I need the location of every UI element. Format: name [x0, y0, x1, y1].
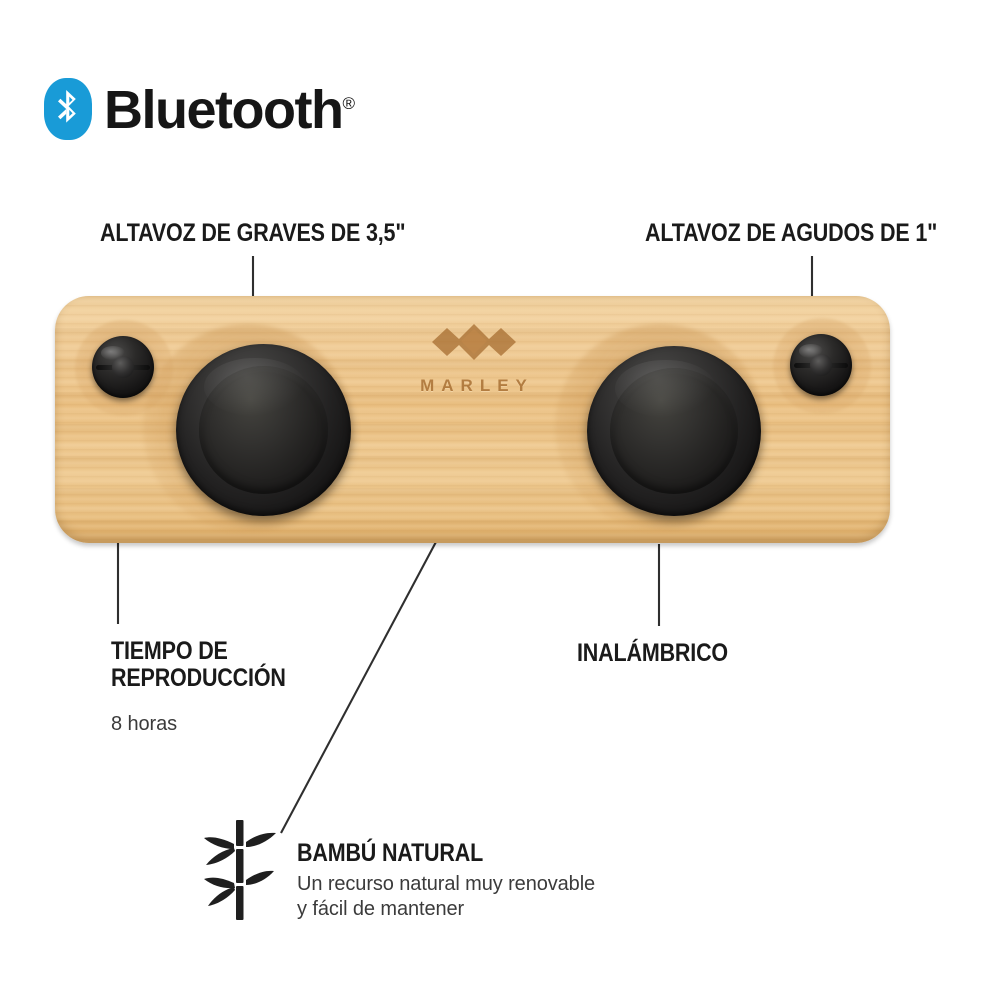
bluetooth-word-text: Bluetooth [104, 80, 342, 140]
woofer-left [176, 344, 351, 516]
bluetooth-badge: Bluetooth® [44, 78, 355, 140]
registered-trademark-symbol: ® [342, 94, 355, 113]
marley-wordmark: MARLEY [396, 376, 551, 396]
callout-title-woofer: ALTAVOZ DE GRAVES DE 3,5" [100, 220, 405, 247]
bluetooth-wordmark: Bluetooth® [104, 83, 355, 137]
tweeter-left [92, 336, 154, 398]
tweeter-right [790, 334, 852, 396]
woofer-highlight-left [204, 358, 306, 416]
marley-branding: MARLEY [396, 322, 551, 396]
callout-subtitle-bamboo: Un recurso natural muy renovable y fácil… [297, 872, 595, 922]
woofer-right [587, 346, 761, 516]
woofer-highlight-right [615, 360, 716, 418]
tweeter-highlight-right [799, 344, 824, 358]
marley-crown-emblem-icon [415, 322, 533, 366]
bluetooth-speaker-product: MARLEY [55, 296, 890, 543]
tweeter-dome-left [112, 356, 133, 377]
tweeter-dome-right [810, 354, 831, 375]
callout-title-tweeter: ALTAVOZ DE AGUDOS DE 1" [645, 220, 937, 247]
bluetooth-icon [44, 78, 92, 140]
leader-line-bamboo [281, 540, 437, 833]
tweeter-highlight-left [101, 346, 126, 360]
callout-title-bamboo: BAMBÚ NATURAL [297, 840, 483, 867]
infographic-canvas: Bluetooth® [0, 0, 1000, 1000]
bamboo-stalk-icon [200, 818, 280, 923]
callout-title-wireless: INALÁMBRICO [577, 640, 728, 667]
callout-title-playtime: TIEMPO DE REPRODUCCIÓN [111, 638, 286, 692]
callout-subtitle-playtime: 8 horas [111, 712, 177, 737]
